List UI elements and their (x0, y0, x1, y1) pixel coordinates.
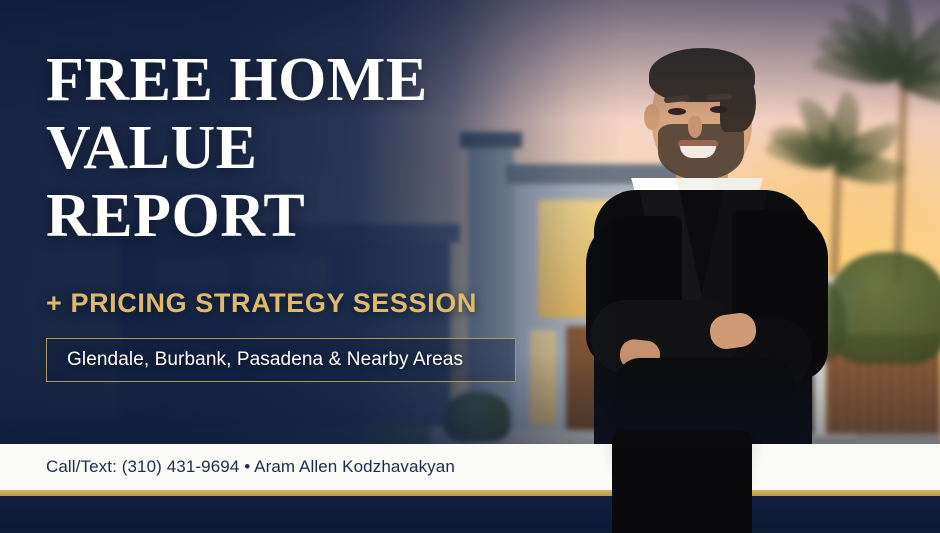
agent-foreground-legs (612, 430, 752, 533)
headline-line-1: FREE HOME (46, 46, 428, 114)
page-title: FREE HOME VALUE REPORT (46, 46, 428, 250)
real-estate-ad-banner: FREE HOME VALUE REPORT + PRICING STRATEG… (0, 0, 940, 533)
service-area-badge: Glendale, Burbank, Pasadena & Nearby Are… (46, 338, 516, 382)
subheadline: + PRICING STRATEGY SESSION (46, 288, 477, 319)
service-area-label: Glendale, Burbank, Pasadena & Nearby Are… (47, 349, 463, 371)
headline-line-3: REPORT (46, 182, 428, 250)
bottom-navy-band (0, 496, 940, 533)
headline-line-2: VALUE (46, 114, 428, 182)
contact-bar: Call/Text: (310) 431-9694 • Aram Allen K… (0, 444, 940, 490)
contact-info-text[interactable]: Call/Text: (310) 431-9694 • Aram Allen K… (0, 457, 455, 477)
